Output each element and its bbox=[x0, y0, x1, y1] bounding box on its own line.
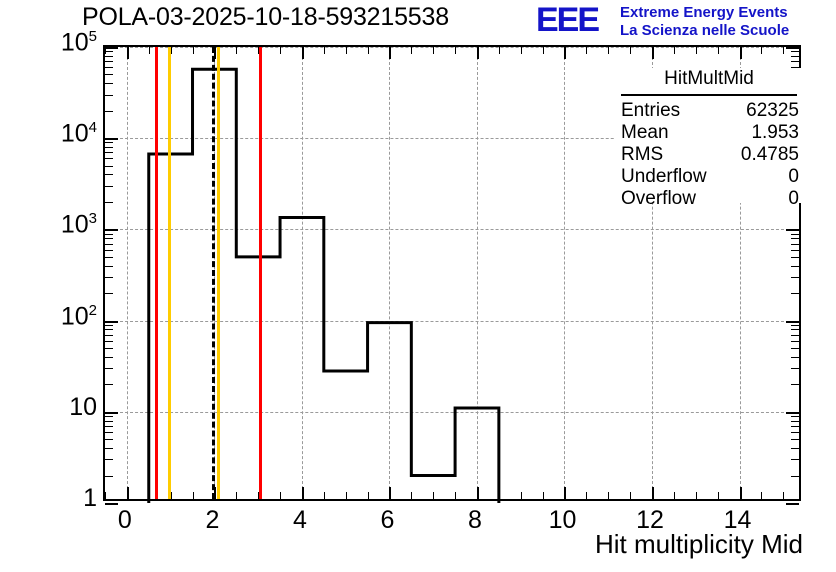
marker-line-mean-dashed bbox=[212, 47, 215, 499]
y-tick-label: 103 bbox=[61, 210, 97, 239]
y-tick-label: 10 bbox=[69, 393, 97, 422]
axis-tick bbox=[105, 503, 118, 505]
marker-line-red-right bbox=[259, 47, 262, 499]
stats-row: Mean1.953 bbox=[621, 122, 799, 144]
stats-row: Overflow0 bbox=[621, 188, 799, 210]
stats-row-key: Mean bbox=[621, 122, 669, 144]
stats-row: RMS0.4785 bbox=[621, 144, 799, 166]
axis-tick bbox=[786, 503, 799, 505]
eee-logo-line2: La Scienza nelle Scuole bbox=[620, 22, 789, 39]
y-tick-label: 105 bbox=[61, 28, 97, 57]
stats-title: HitMultMid bbox=[615, 68, 803, 90]
stats-row-value: 0 bbox=[788, 166, 799, 188]
stats-row: Entries62325 bbox=[621, 100, 799, 122]
eee-logo-line1: Extreme Energy Events bbox=[620, 4, 788, 21]
y-tick-label: 1 bbox=[83, 484, 97, 513]
stats-row-key: RMS bbox=[621, 144, 663, 166]
stats-divider bbox=[621, 94, 797, 96]
stats-row-key: Overflow bbox=[621, 188, 696, 210]
x-axis-title: Hit multiplicity Mid bbox=[595, 529, 803, 560]
root-canvas: POLA-03-2025-10-18-593215538 EEE Extreme… bbox=[0, 0, 836, 572]
x-tick-label: 8 bbox=[468, 506, 482, 535]
stats-row-value: 0 bbox=[788, 188, 799, 210]
eee-logo: EEE Extreme Energy Events La Scienza nel… bbox=[536, 2, 834, 42]
x-tick-label: 2 bbox=[205, 506, 219, 535]
y-tick-label: 104 bbox=[61, 119, 97, 148]
stats-row: Underflow0 bbox=[621, 166, 799, 188]
stats-row-value: 62325 bbox=[746, 100, 799, 122]
x-tick-label: 0 bbox=[118, 506, 132, 535]
x-tick-label: 10 bbox=[549, 506, 577, 535]
stats-row-value: 1.953 bbox=[751, 122, 799, 144]
stats-row-key: Underflow bbox=[621, 166, 707, 188]
x-tick-label: 4 bbox=[293, 506, 307, 535]
page-title: POLA-03-2025-10-18-593215538 bbox=[82, 3, 449, 32]
eee-logo-letters: EEE bbox=[536, 3, 598, 37]
marker-line-orange-left bbox=[168, 47, 171, 499]
y-tick-label: 102 bbox=[61, 302, 97, 331]
stats-row-key: Entries bbox=[621, 100, 680, 122]
x-tick-label: 6 bbox=[380, 506, 394, 535]
stats-row-value: 0.4785 bbox=[741, 144, 799, 166]
marker-line-red-left bbox=[155, 47, 158, 499]
marker-line-orange-right bbox=[217, 47, 220, 499]
statistics-box: HitMultMid Entries62325Mean1.953RMS0.478… bbox=[615, 68, 803, 203]
